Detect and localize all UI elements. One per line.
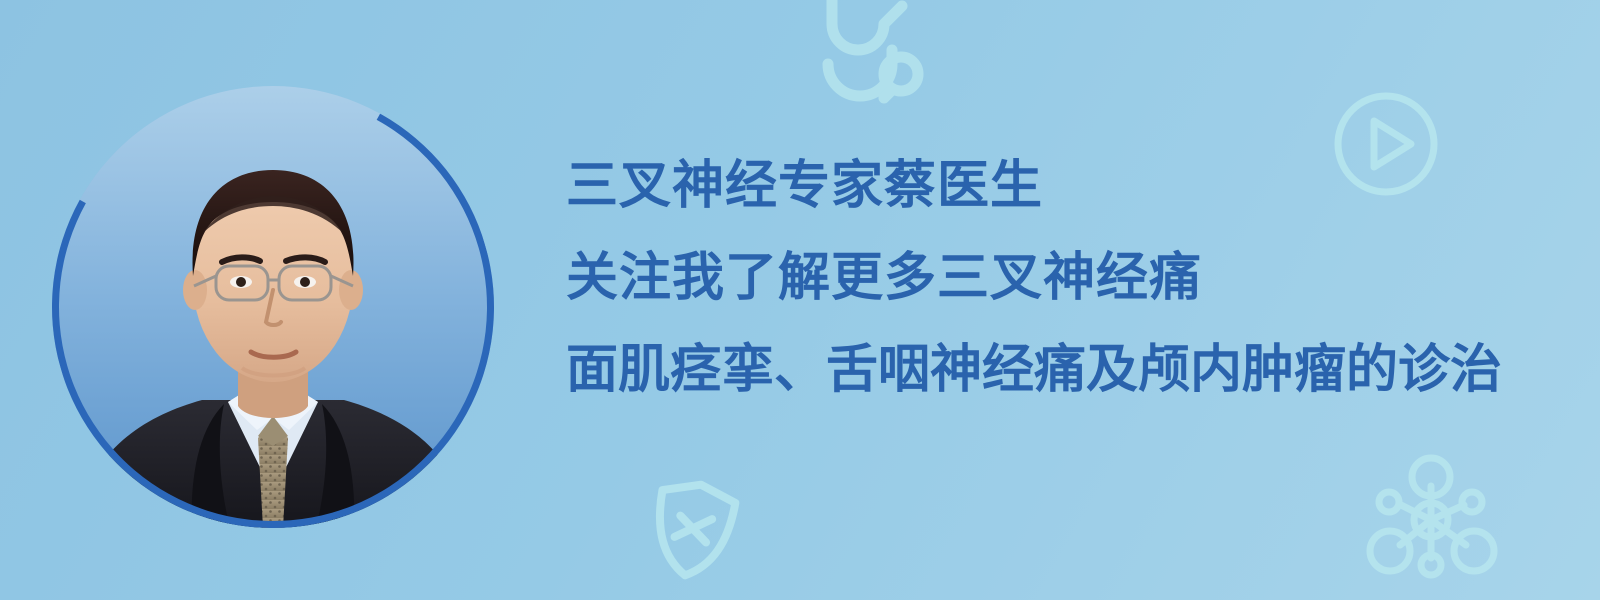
headline-block: 三叉神经专家蔡医生 关注我了解更多三叉神经痛 面肌痉挛、舌咽神经痛及颅内肿瘤的诊…	[566, 160, 1576, 396]
stethoscope-icon	[806, 0, 926, 112]
headline-line-1: 三叉神经专家蔡医生	[566, 160, 1576, 212]
headline-line-2: 关注我了解更多三叉神经痛	[566, 252, 1576, 304]
molecule-icon	[1356, 452, 1506, 588]
doctor-profile-banner: 三叉神经专家蔡医生 关注我了解更多三叉神经痛 面肌痉挛、舌咽神经痛及颅内肿瘤的诊…	[0, 0, 1600, 600]
shield-cross-icon	[638, 474, 748, 586]
doctor-portrait	[52, 86, 494, 528]
headline-line-3: 面肌痉挛、舌咽神经痛及颅内肿瘤的诊治	[566, 344, 1576, 396]
